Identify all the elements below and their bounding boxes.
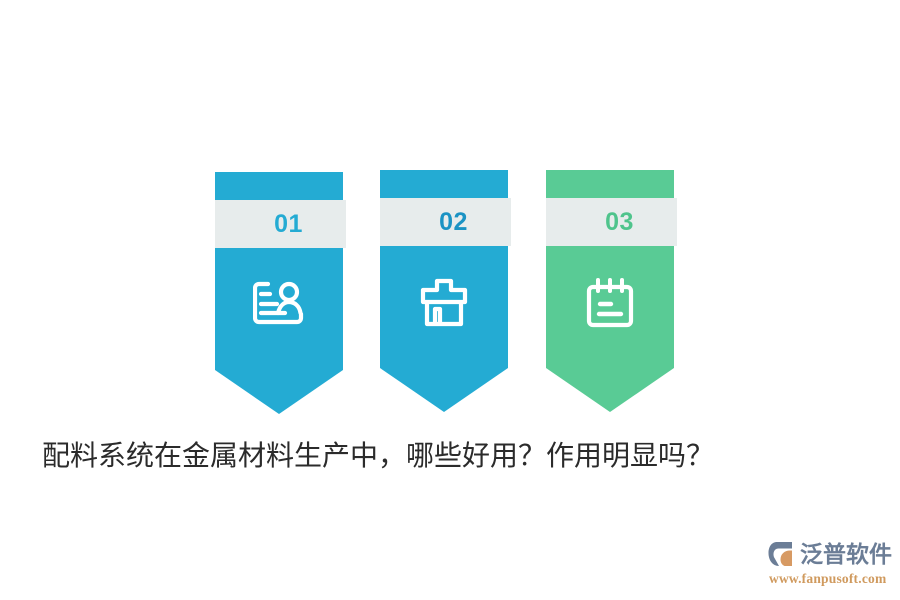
banner-01-body (215, 248, 343, 370)
banner-01-top-bar (215, 172, 343, 200)
banner-03-number-band: 03 (546, 198, 677, 246)
banner-02-point (380, 368, 508, 412)
brand-watermark-top: 泛普软件 (768, 538, 894, 570)
storefront-icon (419, 278, 469, 333)
banner-01-number-band: 01 (215, 200, 346, 248)
banner-01-point (215, 370, 343, 414)
banner-01[interactable]: 01 (215, 172, 343, 414)
fanpu-logo-icon (768, 540, 798, 568)
page-title: 配料系统在金属材料生产中，哪些好用？作用明显吗？ (42, 434, 714, 474)
banner-03-point (546, 368, 674, 412)
brand-name: 泛普软件 (800, 543, 892, 566)
banner-03-top-bar (546, 170, 674, 198)
banner-02-number-band: 02 (380, 198, 511, 246)
banner-03-body (546, 246, 674, 368)
banner-03-number: 03 (605, 210, 634, 235)
banner-02[interactable]: 02 (380, 170, 508, 412)
banner-02-body (380, 246, 508, 368)
id-card-person-icon (253, 280, 305, 331)
poster-canvas: 01 02 (0, 0, 900, 600)
banner-02-top-bar (380, 170, 508, 198)
banner-03[interactable]: 03 (546, 170, 674, 412)
brand-url: www.fanpusoft.com (769, 571, 894, 587)
notepad-lines-icon (586, 278, 634, 333)
brand-watermark: 泛普软件 www.fanpusoft.com (768, 538, 894, 588)
banner-02-number: 02 (439, 210, 468, 235)
banner-01-number: 01 (274, 212, 303, 237)
banner-row: 01 02 (0, 0, 900, 600)
